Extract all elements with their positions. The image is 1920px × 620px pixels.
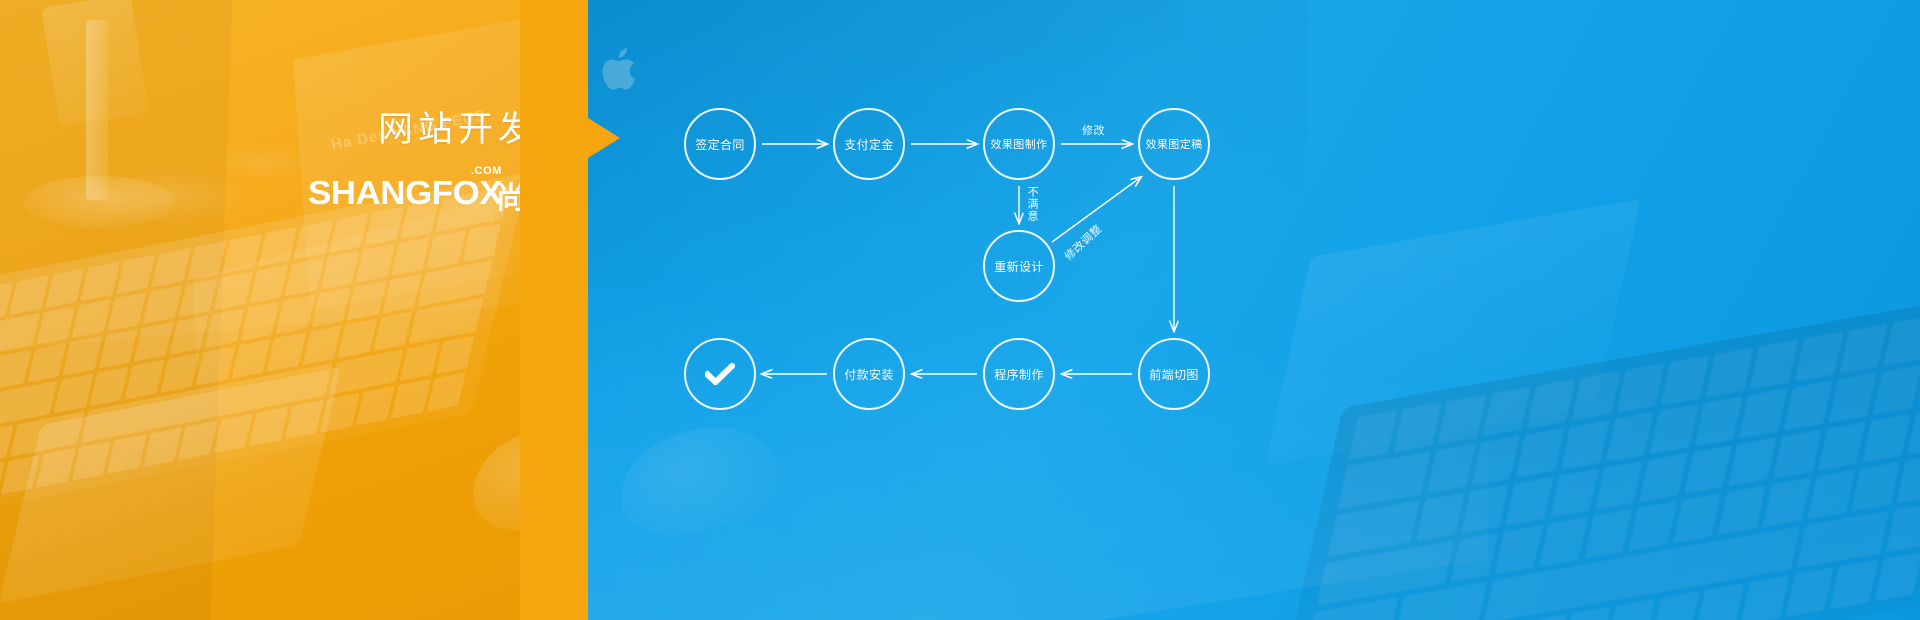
flow-node-pay-deposit[interactable]: 支付定金 xyxy=(833,108,905,180)
flow-node-sign-contract[interactable]: 签定合同 xyxy=(684,108,756,180)
flow-node-complete[interactable] xyxy=(684,338,756,410)
edge-label-not-satisfied: 不满意 xyxy=(1026,186,1037,222)
flow-node-label: 付款安装 xyxy=(844,366,894,383)
flow-node-label: 重新设计 xyxy=(994,258,1044,275)
flow-node-label: 效果图定稿 xyxy=(1146,136,1203,152)
flow-node-label: 效果图制作 xyxy=(991,136,1048,152)
edge-label-modify: 修改 xyxy=(1082,122,1105,138)
website-process-banner: Ha Des YANG FEUS 网站开发流程 .COM SHANGFOX 尚狐 xyxy=(0,0,1920,620)
flow-node-label: 签定合同 xyxy=(695,136,745,153)
process-flow-diagram: 签定合同 支付定金 效果图制作 效果图定稿 重新设计 前端切图 程序制作 付款安… xyxy=(0,0,1920,620)
checkmark-icon xyxy=(705,363,735,385)
flow-node-mockup-production[interactable]: 效果图制作 xyxy=(983,108,1055,180)
flow-node-program-development[interactable]: 程序制作 xyxy=(983,338,1055,410)
flow-node-mockup-final[interactable]: 效果图定稿 xyxy=(1138,108,1210,180)
flow-node-label: 程序制作 xyxy=(994,366,1044,383)
flow-node-redesign[interactable]: 重新设计 xyxy=(983,230,1055,302)
flow-node-label: 前端切图 xyxy=(1149,366,1199,383)
flow-connectors xyxy=(0,0,1920,620)
flow-node-frontend-slicing[interactable]: 前端切图 xyxy=(1138,338,1210,410)
flow-node-payment-install[interactable]: 付款安装 xyxy=(833,338,905,410)
flow-node-label: 支付定金 xyxy=(844,136,894,153)
